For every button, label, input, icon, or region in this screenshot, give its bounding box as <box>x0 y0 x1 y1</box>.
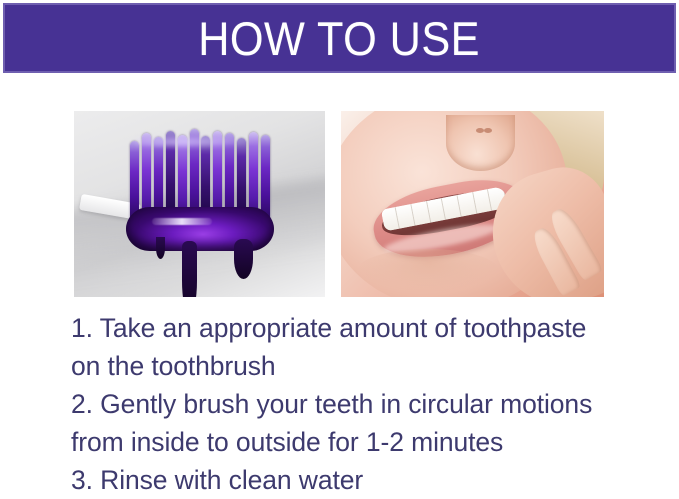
toothpaste-drip <box>182 241 197 297</box>
chin-shadow <box>357 249 499 294</box>
instruction-line: 1. Take an appropriate amount of toothpa… <box>71 309 671 347</box>
how-to-use-infographic: HOW TO USE <box>0 0 679 498</box>
instruction-line: from inside to outside for 1-2 minutes <box>71 423 671 461</box>
instruction-line: 2. Gently brush your teeth in circular m… <box>71 385 671 423</box>
nostril-right <box>484 128 492 133</box>
instruction-line: 3. Rinse with clean water <box>71 461 671 499</box>
toothpaste-drip <box>156 237 165 259</box>
smiling-woman-photo <box>341 111 604 297</box>
bristle-highlight <box>136 135 256 149</box>
nose <box>446 115 514 171</box>
instruction-list: 1. Take an appropriate amount of toothpa… <box>71 309 671 499</box>
header-banner: HOW TO USE <box>3 3 676 73</box>
toothbrush-illustration <box>126 129 274 267</box>
page-title: HOW TO USE <box>199 15 481 62</box>
toothpaste-drip <box>234 239 253 279</box>
image-row <box>0 111 679 297</box>
toothbrush-head-highlight <box>152 218 212 225</box>
instruction-line: on the toothbrush <box>71 347 671 385</box>
toothbrush-photo <box>74 111 325 297</box>
